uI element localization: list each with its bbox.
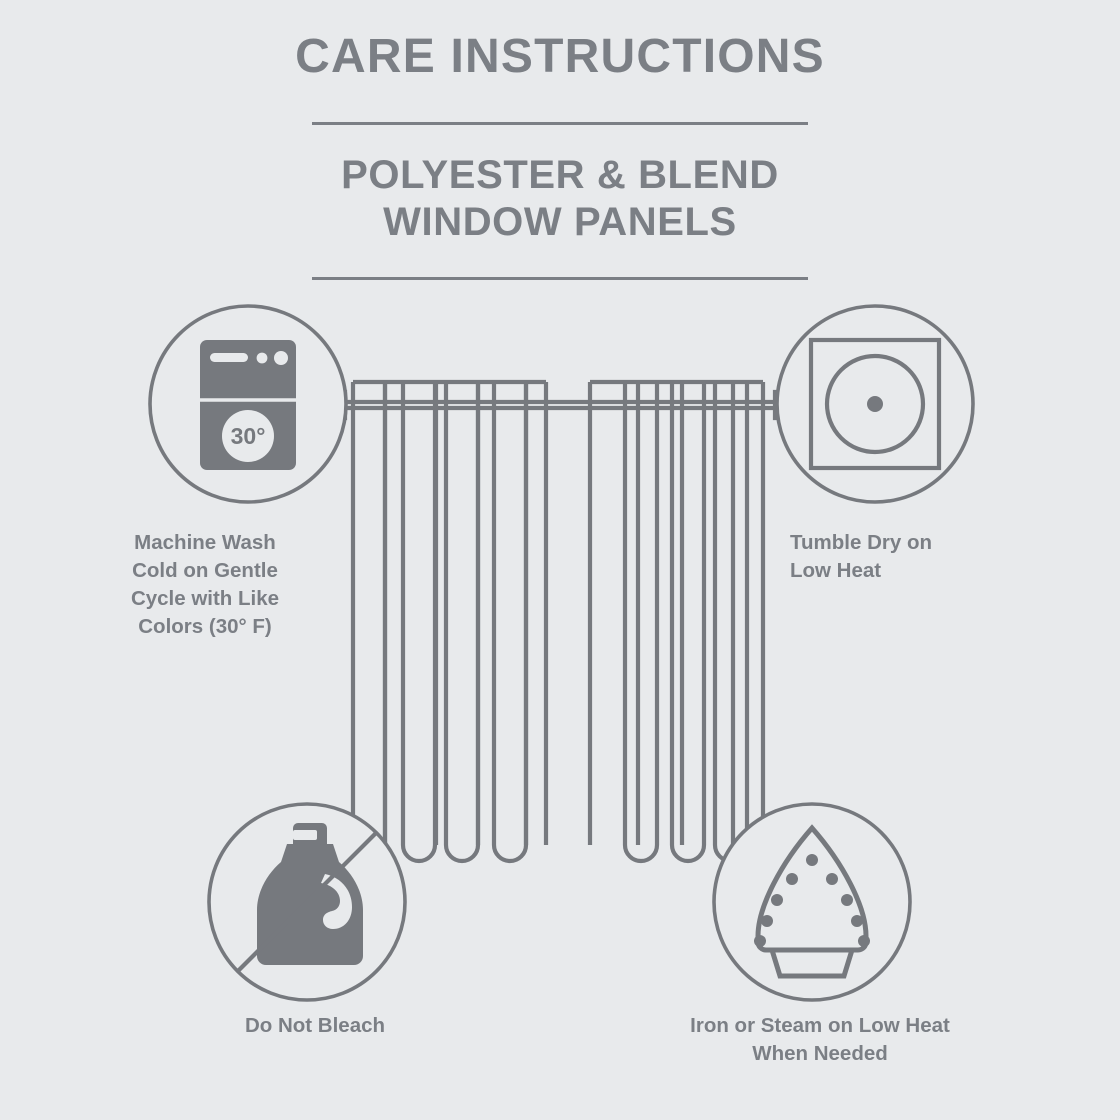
caption-line: When Needed	[600, 1040, 1040, 1068]
caption-do-not-bleach: Do Not Bleach	[165, 1012, 465, 1040]
caption-line: Iron or Steam on Low Heat	[600, 1012, 1040, 1040]
infographic-canvas: CARE INSTRUCTIONS POLYESTER & BLEND WIND…	[0, 0, 1120, 1120]
caption-line: Colors (30° F)	[75, 613, 335, 641]
instruction-do-not-bleach	[209, 804, 405, 1000]
caption-line: Machine Wash	[75, 529, 335, 557]
caption-line: Cycle with Like	[75, 585, 335, 613]
instruction-iron-low-heat	[714, 804, 910, 1000]
caption-line: Tumble Dry on	[790, 529, 1045, 557]
caption-iron-low-heat: Iron or Steam on Low Heat When Needed	[600, 1012, 1040, 1068]
instruction-machine-wash: 30°	[150, 306, 346, 502]
curtain-rod	[345, 402, 775, 408]
caption-machine-wash: Machine Wash Cold on Gentle Cycle with L…	[75, 529, 335, 641]
instruction-tumble-dry	[777, 306, 973, 502]
caption-line: Low Heat	[790, 557, 1045, 585]
caption-line: Cold on Gentle	[75, 557, 335, 585]
iron-badge-ring	[714, 804, 910, 1000]
caption-tumble-dry: Tumble Dry on Low Heat	[790, 529, 1045, 585]
washing-machine-icon: 30°	[200, 340, 296, 470]
washing-machine-temperature-label: 30°	[231, 423, 266, 449]
curtain-window-panels-illustration	[316, 382, 804, 919]
caption-line: Do Not Bleach	[165, 1012, 465, 1040]
